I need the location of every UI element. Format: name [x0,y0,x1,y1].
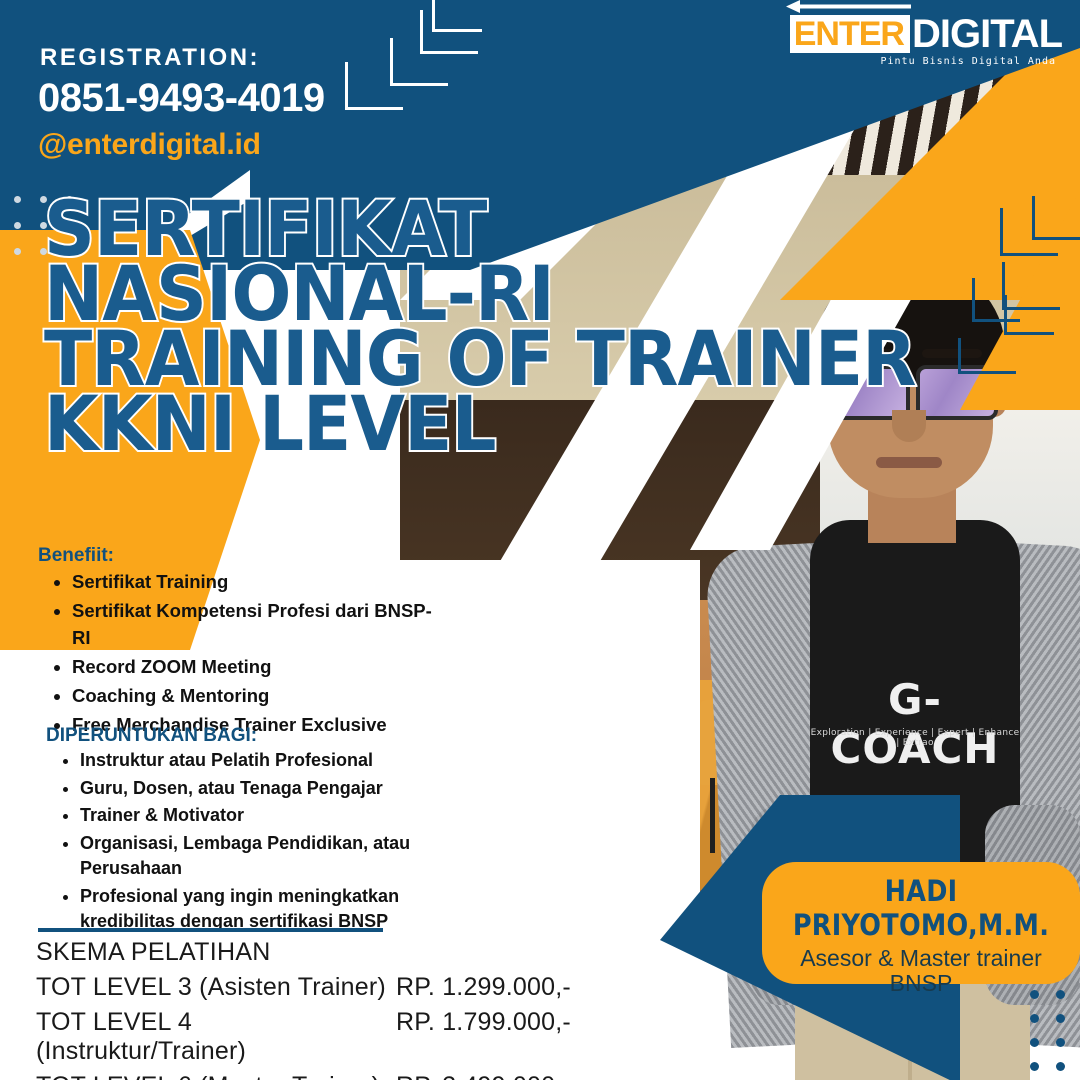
logo-tagline: Pintu Bisnis Digital Anda [812,56,1062,67]
pricing-value: RP. 1.799.000,- [396,1008,571,1066]
logo-enter-block: ENTER [790,15,910,53]
target-audience-list: Instruktur atau Pelatih Profesional Guru… [56,748,440,937]
table-row: TOT LEVEL 4 (Instruktur/Trainer) RP. 1.7… [36,1008,636,1066]
target-audience-heading: DIPERUNTUKAN BAGI: [46,725,257,747]
page-title: SERTIFIKAT NASIONAL-RI TRAINING OF TRAIN… [44,196,751,456]
pricing-value: RP. 1.299.000,- [396,973,571,1002]
pricing-label: TOT LEVEL 4 (Instruktur/Trainer) [36,1008,396,1066]
bracket-icon [972,278,1020,322]
benefit-list: Sertifikat Training Sertifikat Kompetens… [48,568,432,740]
logo-digital-text: DIGITAL [912,14,1062,54]
bracket-icon [1032,196,1080,240]
logo-enter-text: ENTER [794,15,904,53]
presenter-role-line-1: Asesor & Master trainer [762,946,1080,971]
pricing-label: TOT LEVEL 6 (Master Trainer) [36,1072,396,1080]
bracket-icon [958,338,1016,374]
instagram-handle[interactable]: @enterdigital.id [38,128,261,162]
list-item: Guru, Dosen, atau Tenaga Pengajar [80,776,440,802]
presenter-name: HADI PRIYOTOMO,M.M. [781,874,1061,942]
list-item: Record ZOOM Meeting [72,653,432,680]
registration-label: REGISTRATION: [40,44,260,72]
list-item: Trainer & Motivator [80,803,440,829]
left-arrow-icon [786,0,911,13]
table-row: TOT LEVEL 6 (Master Trainer) RP. 3.499.0… [36,1072,636,1080]
mouth [876,457,942,468]
logo-wordmark: ENTER DIGITAL [812,14,1062,54]
pricing-table: SKEMA PELATIHAN TOT LEVEL 3 (Asisten Tra… [36,938,636,1080]
pricing-value: RP. 3.499.000,- [396,1072,571,1080]
list-item: Instruktur atau Pelatih Profesional [80,748,440,774]
bracket-icon [432,0,482,32]
tshirt-tagline-text: Exploration | Experience | Expert | Enha… [810,728,1020,748]
list-item: Coaching & Mentoring [72,682,432,709]
list-item: Sertifikat Kompetensi Profesi dari BNSP-… [72,597,432,651]
presenter-role-line-2: BNSP [762,971,1080,996]
list-item: Organisasi, Lembaga Pendidikan, atau Per… [80,831,440,882]
presenter-name-card: HADI PRIYOTOMO,M.M. Asesor & Master trai… [762,862,1080,984]
registration-phone[interactable]: 0851-9493-4019 [38,76,325,121]
presenter-role: Asesor & Master trainer BNSP [762,946,1080,996]
divider [38,928,383,932]
list-item: Profesional yang ingin meningkatkan kred… [80,884,440,935]
brand-logo[interactable]: ENTER DIGITAL Pintu Bisnis Digital Anda [812,14,1062,67]
benefit-heading: Benefiit: [38,545,114,567]
pricing-heading: SKEMA PELATIHAN [36,938,636,967]
pricing-label: TOT LEVEL 3 (Asisten Trainer) [36,973,396,1002]
poster-canvas: G-COACH Exploration | Experience | Exper… [0,0,1080,1080]
list-item: Sertifikat Training [72,568,432,595]
tshirt-logo-text: G-COACH [810,675,1020,773]
table-row: TOT LEVEL 3 (Asisten Trainer) RP. 1.299.… [36,973,636,1002]
